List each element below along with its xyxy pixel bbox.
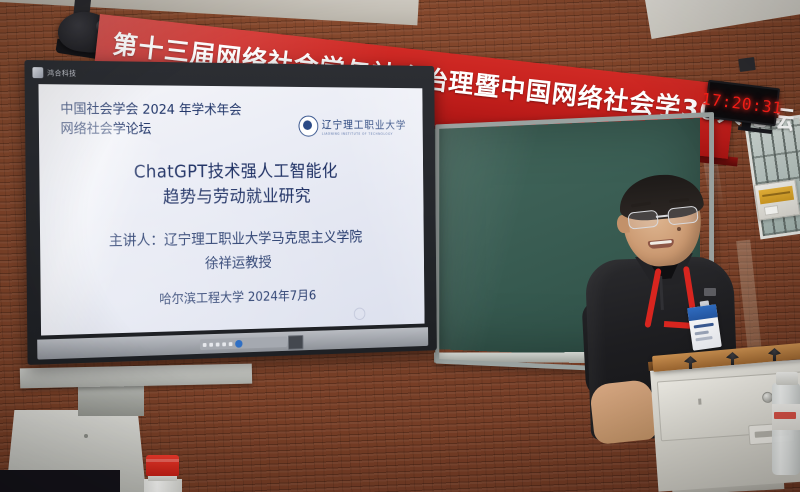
university-name-en: LIAONING INSTITUTE OF TECHNOLOGY — [322, 132, 406, 136]
stand-screw — [84, 434, 88, 438]
control-button-4[interactable] — [222, 342, 226, 346]
clock-time: 17:20:31 — [701, 89, 784, 118]
slide-university-logo: 辽宁理工职业大学 LIAONING INSTITUTE OF TECHNOLOG… — [298, 116, 406, 137]
slide-header-line2: 网络社会学论坛 — [60, 120, 241, 140]
brand-logo-icon — [32, 67, 43, 78]
presentation-slide: 中国社会学会 2024 年学术年会 网络社会学论坛 辽宁理工职业大学 LIAON… — [38, 84, 424, 335]
slide-title-line1: ChatGPT技术强人工智能化 — [39, 159, 423, 186]
badge-text-line-3 — [695, 336, 712, 341]
smartboard[interactable]: 鸿合科技 中国社会学会 2024 年学术年会 网络社会学论坛 辽宁理工职业大学 … — [24, 60, 436, 365]
conference-name-badge — [687, 304, 722, 351]
panel-switch[interactable] — [764, 205, 779, 216]
slide-footer: 哈尔滨工程大学 2024年7月6 — [41, 283, 425, 311]
smartboard-wall-bracket — [78, 384, 144, 416]
lens-right — [667, 205, 699, 225]
control-button-3[interactable] — [216, 342, 220, 346]
presenter-mole — [677, 227, 681, 231]
power-button-icon[interactable] — [235, 339, 242, 347]
podium-screw — [698, 399, 701, 405]
glasses-bridge — [656, 215, 668, 218]
control-button-5[interactable] — [229, 342, 233, 346]
shirt-chest-logo — [704, 288, 716, 296]
podium-bottle-cap — [776, 372, 798, 385]
slide-header: 中国社会学会 2024 年学术年会 网络社会学论坛 — [60, 100, 242, 139]
usb-port-icon[interactable] — [288, 335, 303, 350]
badge-text-line-1 — [694, 323, 714, 329]
control-button-2[interactable] — [209, 342, 213, 346]
badge-text-line-2 — [695, 330, 709, 334]
wall-speaker-box — [738, 57, 756, 72]
panel-label-plate — [758, 186, 794, 205]
university-name-cn: 辽宁理工职业大学 — [322, 117, 407, 132]
foreground-shadow — [0, 470, 120, 492]
university-seal-icon — [298, 116, 318, 137]
smartboard-brand: 鸿合科技 — [32, 64, 167, 83]
smartboard-screen[interactable]: 中国社会学会 2024 年学术年会 网络社会学论坛 辽宁理工职业大学 LIAON… — [38, 84, 424, 335]
slide-header-line1: 中国社会学会 2024 年学术年会 — [60, 100, 241, 120]
photo-scene: 第十三届网络社会学与社会治理暨中国网络社会学30人论坛 17:20:31 鸿合科… — [0, 0, 800, 492]
front-bottle-cap — [146, 455, 179, 476]
slide-watermark-icon — [354, 307, 366, 320]
slide-title-line2: 趋势与劳动就业研究 — [40, 184, 424, 213]
wall-control-panel[interactable] — [754, 179, 800, 220]
slide-title: ChatGPT技术强人工智能化 趋势与劳动就业研究 — [39, 159, 423, 212]
presenter-left-forearm — [589, 379, 657, 445]
lens-left — [627, 210, 659, 230]
podium-bottle-label — [772, 404, 800, 430]
brand-label: 鸿合科技 — [47, 68, 76, 78]
badge-header — [687, 304, 718, 321]
control-button-1[interactable] — [203, 343, 207, 347]
slide-speaker: 主讲人：辽宁理工职业大学马克思主义学院 徐祥运教授 — [40, 226, 424, 282]
